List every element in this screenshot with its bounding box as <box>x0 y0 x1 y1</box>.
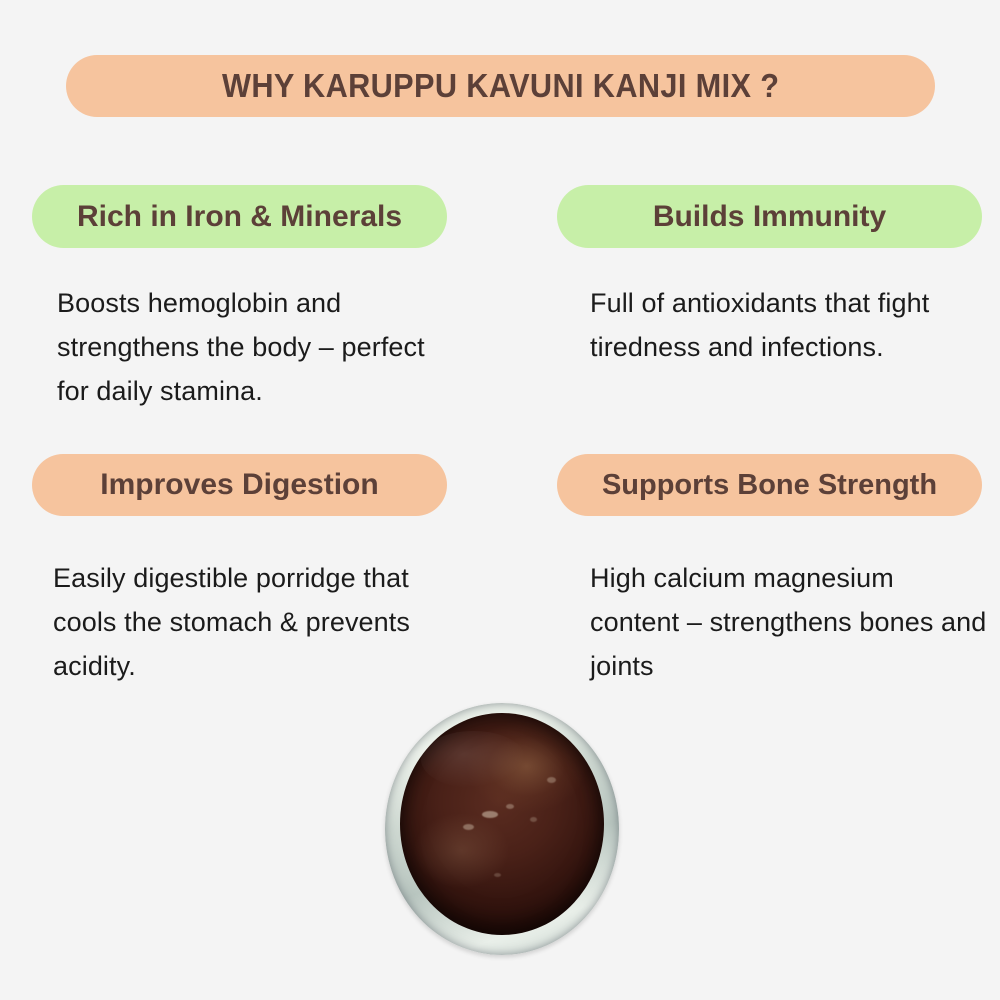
product-photo <box>385 703 619 955</box>
benefit-badge-immunity: Builds Immunity <box>557 185 982 248</box>
benefit-badge-label: Builds Immunity <box>653 202 886 232</box>
benefit-block-immunity: Builds Immunity <box>557 185 1000 248</box>
benefit-description-immunity: Full of antioxidants that fight tirednes… <box>590 281 980 369</box>
benefit-badge-digestion: Improves Digestion <box>32 454 447 516</box>
header-pill: WHY KARUPPU KAVUNI KANJI MIX ? <box>66 55 935 117</box>
page-title: WHY KARUPPU KAVUNI KANJI MIX ? <box>222 67 779 105</box>
benefit-badge-label: Rich in Iron & Minerals <box>77 202 402 232</box>
benefit-block-bone: Supports Bone Strength <box>557 454 1000 516</box>
benefit-badge-iron: Rich in Iron & Minerals <box>32 185 447 248</box>
bowl-rim <box>385 703 619 955</box>
benefit-badge-label: Improves Digestion <box>100 470 378 500</box>
infographic-page: WHY KARUPPU KAVUNI KANJI MIX ? Rich in I… <box>0 0 1000 1000</box>
benefit-description-bone: High calcium magnesium content – strengt… <box>590 556 990 688</box>
benefit-block-digestion: Improves Digestion <box>32 454 502 516</box>
bowl-shape <box>385 703 619 955</box>
benefit-description-iron: Boosts hemoglobin and strengthens the bo… <box>57 281 457 413</box>
benefit-block-iron: Rich in Iron & Minerals <box>32 185 502 248</box>
benefit-description-digestion: Easily digestible porridge that cools th… <box>53 556 453 688</box>
benefit-badge-label: Supports Bone Strength <box>602 471 937 500</box>
benefit-badge-bone: Supports Bone Strength <box>557 454 982 516</box>
